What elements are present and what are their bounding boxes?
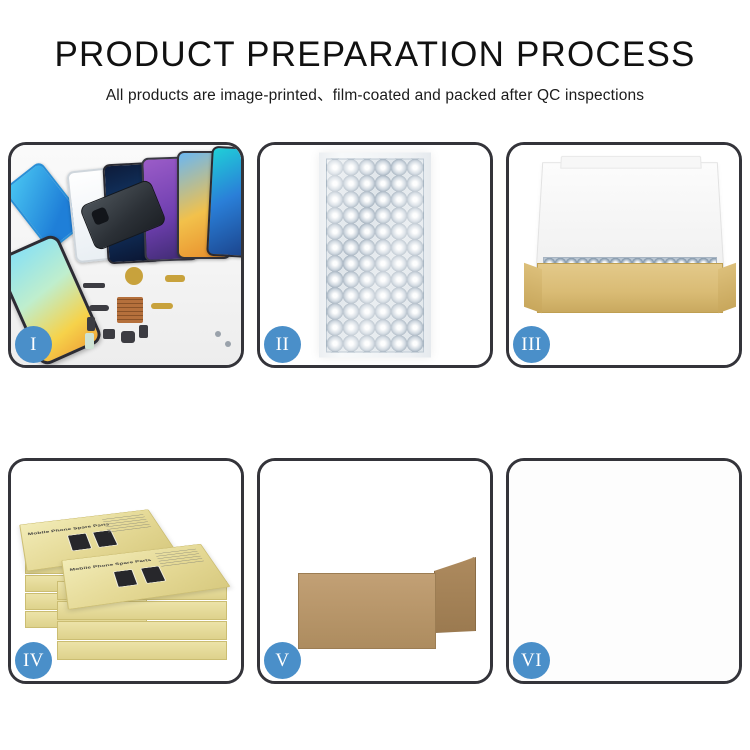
part-flex-cable-a <box>165 275 185 282</box>
page-subtitle: All products are image-printed、film-coat… <box>0 85 750 107</box>
process-step-2: II <box>257 142 493 368</box>
part-camera-module <box>121 331 135 343</box>
part-flex-cable-b <box>151 303 173 309</box>
step-badge-5: V <box>264 642 301 679</box>
box-spec-lines-back <box>102 514 152 534</box>
product-preparation-process-infographic: PRODUCT PREPARATION PROCESS All products… <box>0 0 750 750</box>
part-speaker <box>83 283 105 288</box>
retail-box-stack: Mobile Phone Spare Parts Mobile Phone Sp… <box>17 477 239 673</box>
part-chip-grid <box>117 297 143 323</box>
carton-side-panel <box>434 557 476 633</box>
header: PRODUCT PREPARATION PROCESS All products… <box>0 0 750 107</box>
step-badge-2: II <box>264 326 301 363</box>
part-battery-tab <box>139 325 148 338</box>
part-screw-b <box>225 341 231 347</box>
box-label-front: Mobile Phone Spare Parts <box>69 558 152 572</box>
step-badge-3: III <box>513 326 550 363</box>
process-step-6: VI <box>506 458 742 684</box>
part-connector-a <box>89 305 109 311</box>
box-screen-graphic-c <box>113 569 138 587</box>
stacked-box-r3 <box>57 621 227 640</box>
spare-parts-group <box>83 263 241 365</box>
process-step-5: V <box>257 458 493 684</box>
part-tool <box>85 333 94 349</box>
page-title: PRODUCT PREPARATION PROCESS <box>0 34 750 76</box>
part-button <box>103 329 115 339</box>
inner-box-body <box>537 263 723 313</box>
step-badge-6: VI <box>513 642 550 679</box>
part-connector-b <box>87 317 95 331</box>
step-badge-1: I <box>15 326 52 363</box>
bubble-wrap-sheet <box>319 153 431 358</box>
box-spec-lines-front <box>155 549 205 569</box>
process-step-grid: I II III <box>8 142 742 690</box>
box-screen-graphic-a <box>67 533 93 551</box>
part-screw-a <box>215 331 221 337</box>
bubble-wrap-texture <box>326 158 424 352</box>
process-step-3: III <box>506 142 742 368</box>
step-badge-4: IV <box>15 642 52 679</box>
stacked-box-r4 <box>57 641 227 660</box>
process-step-1: I <box>8 142 244 368</box>
carton-front-panel <box>298 573 436 649</box>
process-step-4: Mobile Phone Spare Parts Mobile Phone Sp… <box>8 458 244 684</box>
open-carton <box>278 495 474 655</box>
part-coil <box>125 267 143 285</box>
phone-screen-teal <box>206 146 241 258</box>
